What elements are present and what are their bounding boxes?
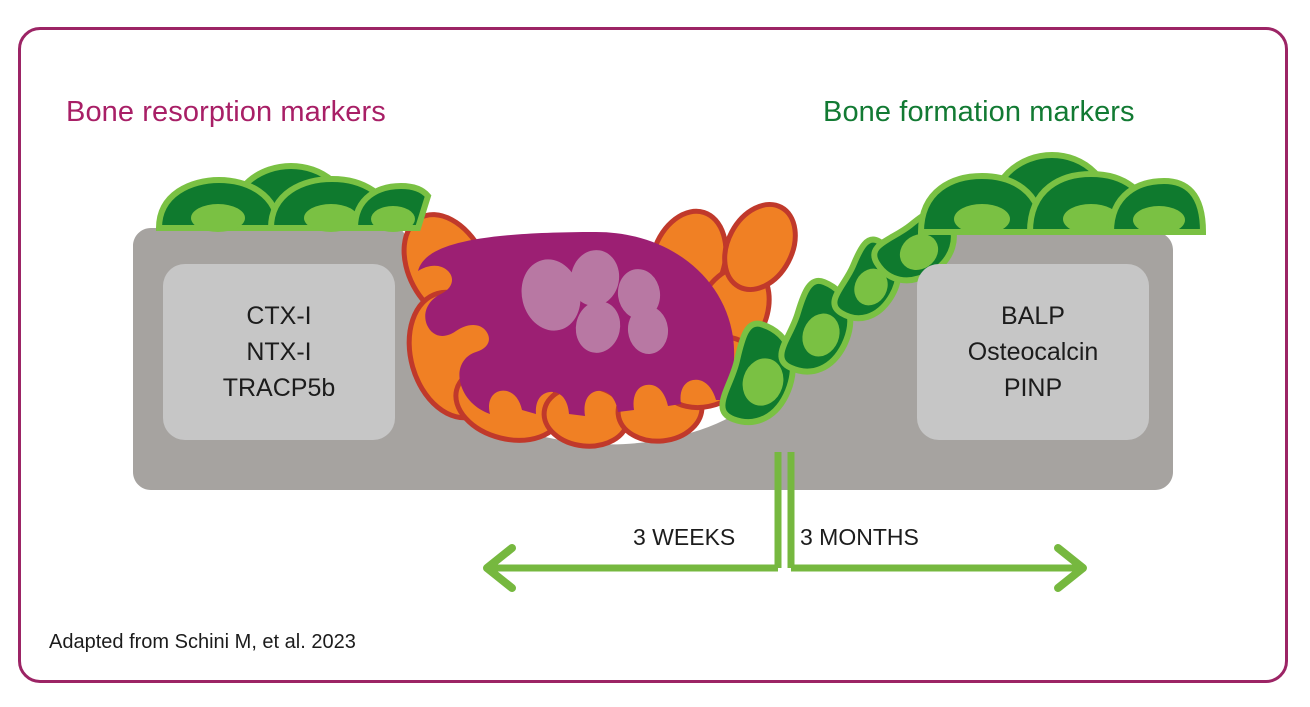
bone-resorption-markers-title: Bone resorption markers [66,96,386,129]
lining-cell-nucleus [304,204,358,232]
timeline-label-three-weeks: 3 WEEKS [633,524,735,551]
lining-cell-nucleus [954,204,1010,234]
lining-cell-nucleus [191,204,245,232]
marker-label: Osteocalcin [968,340,1099,365]
bone-lining-cells-right [921,155,1203,234]
timeline-label-three-months: 3 MONTHS [800,524,919,551]
marker-label: BALP [1001,304,1065,329]
formation-marker-box: BALP Osteocalcin PINP [917,264,1149,440]
lining-cell-nucleus [1133,206,1185,234]
marker-label: TRACP5b [223,376,336,401]
bone-lining-cells-left [159,166,428,232]
marker-label: CTX-I [246,304,311,329]
marker-label: PINP [1004,376,1062,401]
lining-cell-nucleus [371,206,415,232]
figure-caption: Adapted from Schini M, et al. 2023 [49,631,356,654]
bone-formation-markers-title: Bone formation markers [823,96,1135,129]
marker-label: NTX-I [246,340,311,365]
resorption-marker-box: CTX-I NTX-I TRACP5b [163,264,395,440]
figure-stage: Bone resorption markers Bone formation m… [0,0,1310,707]
